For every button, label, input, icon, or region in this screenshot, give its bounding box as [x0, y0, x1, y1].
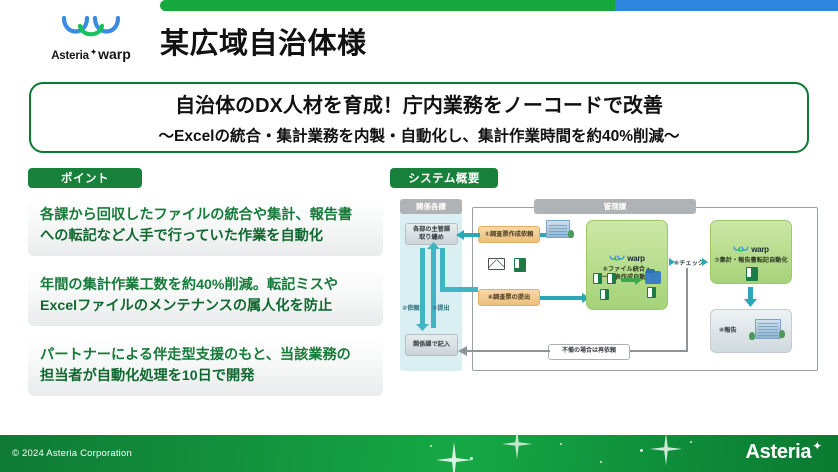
- node-resubmit-note: 不備の場合は再依頼: [548, 344, 630, 360]
- feedback-line-left: [462, 350, 550, 352]
- excel-file-icon-6: [746, 267, 758, 281]
- node-warp-integration: warp ⑤ファイル統合・ 一覧表作成自動化: [586, 220, 668, 310]
- node-step4-survey-submit: ④調査票の提出: [478, 289, 540, 306]
- arrow-merge-body: [621, 278, 637, 282]
- point-item-3-line1: パートナーによる伴走型支援のもと、当該業務の: [40, 345, 371, 366]
- asteria-warp-logo: Asteria ✦ warp: [31, 14, 151, 62]
- top-band-green: [160, 0, 615, 11]
- sparkle-dot-3: [560, 443, 562, 445]
- node-step8-report: ⑧報告: [710, 309, 792, 353]
- footer-asteria-logo: Asteria ✦: [746, 441, 822, 464]
- excel-file-icon-2: [593, 273, 602, 284]
- brand-asteria: Asteria: [51, 50, 89, 62]
- warp-caption-2: ⑦集計・報告書転記自動化: [714, 257, 787, 265]
- node-supervising-line1: 各部の主管課: [413, 226, 450, 233]
- step-label-3-submit: ③提出: [432, 303, 450, 312]
- sparkle-dot-5: [640, 449, 643, 452]
- footer-logo-text: Asteria: [746, 441, 812, 464]
- warp-mini-logo-2: warp: [733, 245, 768, 255]
- warp-mini-logo-1: warp: [609, 254, 644, 264]
- slide-root: Asteria ✦ warp 某広域自治体様 自治体のDX人材を育成！庁内業務を…: [0, 0, 838, 472]
- arrow-step4-to-warp: [540, 296, 584, 300]
- tree-icon-2: [779, 330, 785, 338]
- headline-secondary: ～Excelの統合・集計業務を内製・自動化し、集計作業時間を約40%削減～: [158, 124, 679, 146]
- point-item-3-line2: 担当者が自動化処理を10日で開発: [40, 366, 371, 387]
- feedback-line-vertical: [686, 268, 688, 352]
- step5-line1: ⑤ファイル統合・: [603, 266, 652, 273]
- sparkle-icon: ✦: [90, 47, 97, 58]
- excel-file-icon-1: [514, 258, 526, 272]
- section-tag-system: システム概要: [390, 168, 498, 188]
- brand-warp: warp: [98, 46, 131, 62]
- excel-file-icon-5: [647, 287, 656, 298]
- footer-bar: © 2024 Asteria Corporation Asteria ✦: [0, 435, 838, 472]
- page-title: 某広域自治体様: [160, 20, 367, 62]
- warp-infinity-mark: [60, 14, 122, 44]
- star-burst-icon-3: [648, 435, 684, 467]
- point-item-1-line2: への転記など人手で行っていた作業を自動化: [40, 226, 371, 247]
- envelope-icon: [488, 258, 505, 270]
- copyright-text: © 2024 Asteria Corporation: [12, 448, 132, 459]
- government-building-icon: [546, 220, 570, 238]
- feedback-line-right: [630, 350, 688, 352]
- headline-primary: 自治体のDX人材を育成！庁内業務をノーコードで改善: [175, 89, 663, 118]
- pipe-request-down: [420, 248, 425, 328]
- excel-file-icon-3: [607, 273, 616, 284]
- brand-wordmark: Asteria ✦ warp: [31, 46, 151, 62]
- step8-label: ⑧報告: [719, 327, 737, 335]
- section-tag-point: ポイント: [28, 168, 142, 188]
- warp-mini-label-1: warp: [627, 254, 644, 264]
- folder-icon: [645, 271, 661, 284]
- node-step1-survey-request: ①調査票作成依頼: [478, 226, 540, 243]
- footer-sparkle-icon: ✦: [812, 439, 822, 453]
- sparkle-dot-4: [600, 461, 602, 463]
- pipe-submit-up: [431, 248, 436, 328]
- top-color-band: [160, 0, 838, 11]
- diagram-label-related-sections: 関係各課: [400, 199, 462, 214]
- star-burst-icon-2: [500, 435, 534, 461]
- diagram-label-admin-section: 管理課: [534, 199, 696, 214]
- step-label-6-check: ⑥チェック: [674, 258, 704, 267]
- tree-icon-3: [749, 332, 755, 340]
- point-item-3: パートナーによる伴走型支援のもと、当該業務の 担当者が自動化処理を10日で開発: [28, 336, 383, 396]
- sparkle-dot-6: [690, 441, 692, 443]
- warp-infinity-mark-small-2: [733, 245, 749, 254]
- point-item-1: 各課から回収したファイルの統合や集計、報告書 への転記など人手で行っていた作業を…: [28, 196, 383, 256]
- headline-box: 自治体のDX人材を育成！庁内業務をノーコードで改善 ～Excelの統合・集計業務…: [29, 82, 809, 153]
- node-supervising-section: 各部の主管課 取り纏め: [405, 223, 458, 245]
- pipe-submit-branch: [440, 248, 445, 292]
- warp-box-2-content: warp ⑦集計・報告書転記自動化: [714, 239, 787, 265]
- point-item-2: 年間の集計作業工数を約40%削減。転記ミスや Excelファイルのメンテナンスの…: [28, 266, 383, 326]
- arrow-report-body: [748, 287, 753, 301]
- pipe-submit-branch-h: [440, 287, 478, 292]
- sparkle-dot-1: [430, 445, 432, 447]
- step-label-2-request: ②依頼: [402, 303, 420, 312]
- star-burst-icon-1: [434, 440, 474, 472]
- top-band-blue: [615, 0, 838, 11]
- node-supervising-line2: 取り纏め: [419, 234, 444, 241]
- system-overview-diagram: 関係各課 管理課 各部の主管課 取り纏め 関係課で記入 ②依頼 ③提出 ①調査票…: [388, 196, 828, 386]
- node-warp-reporting: warp ⑦集計・報告書転記自動化: [710, 220, 792, 284]
- excel-file-icon-4: [600, 289, 609, 300]
- government-building-icon-2: [755, 319, 781, 339]
- point-item-1-line1: 各課から回収したファイルの統合や集計、報告書: [40, 205, 371, 226]
- warp-mini-label-2: warp: [751, 245, 768, 255]
- tree-icon-1: [568, 230, 574, 238]
- warp-infinity-mark-small-1: [609, 254, 625, 263]
- point-item-2-line1: 年間の集計作業工数を約40%削減。転記ミスや: [40, 275, 371, 296]
- node-fill-in-section: 関係課で記入: [405, 334, 458, 356]
- point-item-2-line2: Excelファイルのメンテナンスの属人化を防止: [40, 296, 371, 317]
